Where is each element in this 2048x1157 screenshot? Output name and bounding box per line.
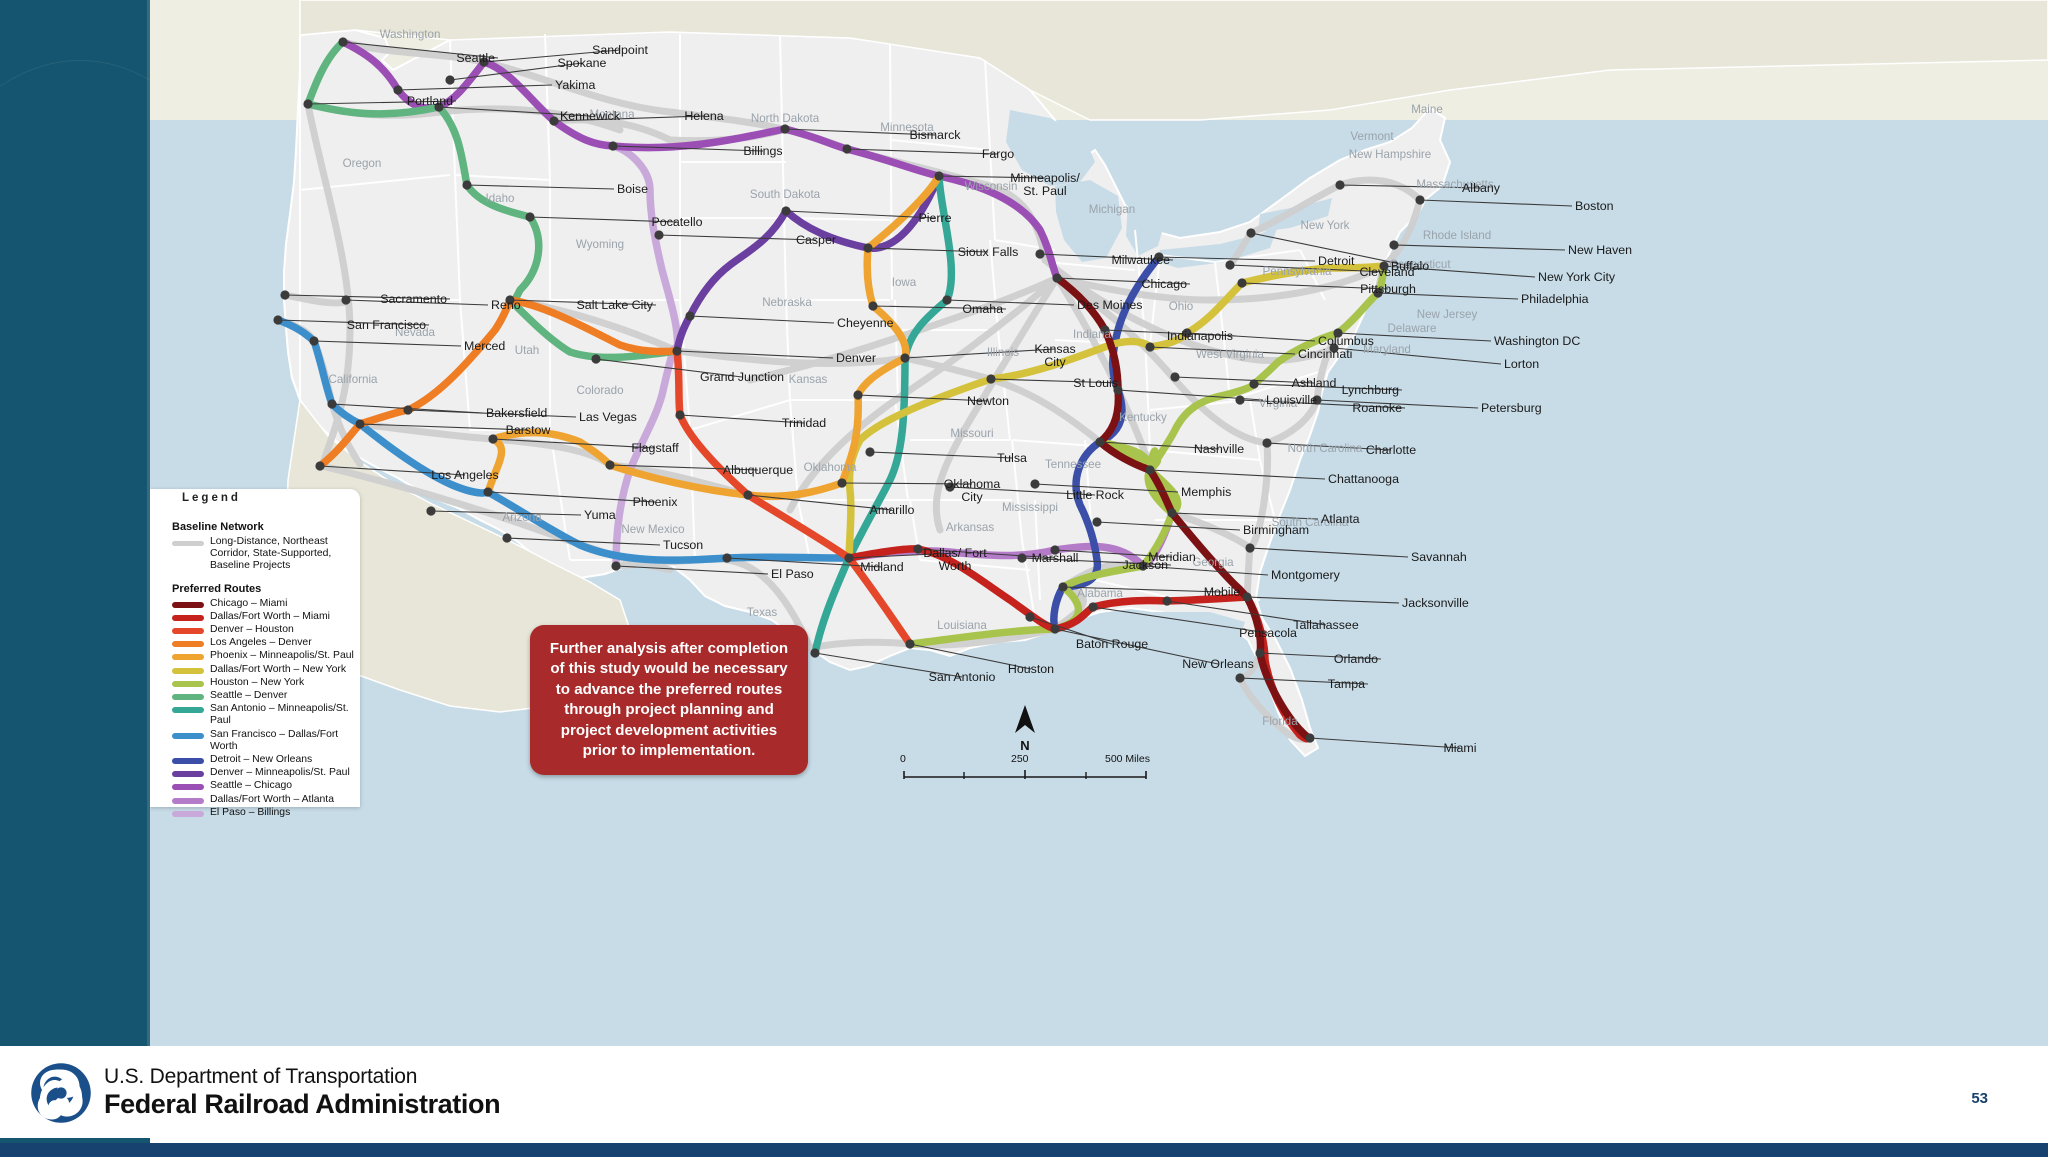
city-label: Roanoke	[1352, 401, 1402, 415]
city-label: San Francisco	[347, 318, 426, 332]
city-label: Marshall	[1032, 551, 1079, 565]
city-label: Miami	[1443, 741, 1476, 755]
scale-bar: 0 250 500 Miles	[900, 753, 1150, 786]
city-label: Jacksonville	[1402, 596, 1469, 610]
agency-line-1: U.S. Department of Transportation	[104, 1064, 500, 1089]
city-label: Mobile	[1204, 585, 1241, 599]
city-label: Los Angeles	[431, 468, 499, 482]
legend-label-route: Denver – Houston	[210, 624, 294, 636]
city-label: Pocatello	[652, 215, 703, 229]
city-label: Des Moines	[1077, 298, 1142, 312]
legend-swatch-route	[172, 694, 204, 700]
legend-item-route: Denver – Minneapolis/St. Paul	[172, 767, 360, 779]
city-label: Montgomery	[1271, 568, 1341, 582]
city-label: Buffalo	[1391, 259, 1429, 273]
city-label: San Antonio	[929, 670, 996, 684]
city-label: Pierre	[918, 211, 951, 225]
rail-arc-3	[0, 60, 150, 1046]
city-label: Chattanooga	[1328, 472, 1399, 486]
map-panel: Proposed Network of Preferred Routes	[150, 0, 2048, 1046]
legend-label-route: Denver – Minneapolis/St. Paul	[210, 767, 350, 779]
state-label: Tennessee	[1045, 458, 1101, 471]
state-label: Mississippi	[1002, 501, 1058, 514]
legend-swatch-route	[172, 758, 204, 764]
legend-label-route: Houston – New York	[210, 677, 304, 689]
city-label: New York City	[1538, 270, 1616, 284]
city-label: Boise	[617, 182, 648, 196]
label-leader-line	[1420, 200, 1572, 206]
legend-item-route: El Paso – Billings	[172, 807, 360, 819]
legend-label-route: Dallas/Fort Worth – Atlanta	[210, 794, 334, 806]
label-leader-line	[1247, 597, 1399, 603]
city-label: Midland	[860, 560, 904, 574]
legend-item-route: Dallas/Fort Worth – Miami	[172, 611, 360, 623]
legend-item-baseline: Long-Distance, Northeast Corridor, State…	[172, 536, 360, 573]
scale-tick-0: 0	[900, 753, 906, 765]
city-label: Merced	[464, 339, 505, 353]
city-label: Little Rock	[1066, 488, 1125, 502]
city-label: Charlotte	[1366, 443, 1416, 457]
legend-label-route: Detroit – New Orleans	[210, 754, 312, 766]
scale-tick-250: 250	[1011, 753, 1029, 765]
legend-item-route: Detroit – New Orleans	[172, 754, 360, 766]
state-label: Vermont	[1350, 130, 1394, 143]
city-label: Lorton	[1504, 357, 1539, 371]
city-label: Tulsa	[997, 451, 1027, 465]
city-label: Flagstaff	[631, 441, 679, 455]
city-label: Louisville	[1266, 393, 1317, 407]
state-label: Georgia	[1192, 556, 1234, 569]
city-label: Baton Rouge	[1076, 637, 1148, 651]
state-label: New Hampshire	[1349, 148, 1431, 161]
state-label: Michigan	[1089, 203, 1135, 216]
legend-preferred-heading: Preferred Routes	[172, 583, 360, 595]
city-label: Philadelphia	[1521, 292, 1589, 306]
city-label: Fargo	[982, 147, 1014, 161]
legend-item-route: San Francisco – Dallas/Fort Worth	[172, 729, 360, 753]
state-label: Utah	[515, 344, 540, 357]
state-label: Texas	[747, 606, 777, 619]
city-label: New Orleans	[1182, 657, 1254, 671]
legend-item-route: Dallas/Fort Worth – New York	[172, 664, 360, 676]
city-label: Nashville	[1194, 442, 1244, 456]
legend-label-route: Los Angeles – Denver	[210, 637, 312, 649]
legend-swatch-route	[172, 615, 204, 621]
legend-route-list: Chicago – MiamiDallas/Fort Worth – Miami…	[172, 598, 360, 819]
legend-swatch-route	[172, 784, 204, 790]
city-label: Denver	[836, 351, 876, 365]
city-label: Birmingham	[1243, 523, 1309, 537]
analysis-callout: Further analysis after completion of thi…	[530, 625, 808, 775]
agency-name: U.S. Department of Transportation Federa…	[104, 1064, 500, 1119]
city-label: Newton	[967, 394, 1009, 408]
state-label: Rhode Island	[1423, 229, 1491, 242]
page-number: 53	[1971, 1090, 1988, 1107]
legend-body: Baseline Network Long-Distance, Northeas…	[150, 511, 360, 820]
city-label: Grand Junction	[700, 370, 784, 384]
legend-label-route: Seattle – Chicago	[210, 780, 292, 792]
legend-swatch-route	[172, 654, 204, 660]
state-label: Nebraska	[762, 296, 812, 309]
city-label: Lynchburg	[1342, 383, 1400, 397]
state-label: Kentucky	[1119, 411, 1167, 424]
legend-label-route: Seattle – Denver	[210, 690, 287, 702]
state-label: Maine	[1411, 103, 1443, 116]
legend-item-route: San Antonio – Minneapolis/St. Paul	[172, 703, 360, 727]
state-label: Arkansas	[946, 521, 995, 534]
state-label: California	[329, 373, 379, 386]
state-label: South Dakota	[750, 188, 821, 201]
north-arrow: N	[1005, 705, 1045, 753]
city-label: Milwaukee	[1111, 253, 1170, 267]
city-label: Tucson	[663, 538, 703, 552]
city-label: Albany	[1462, 181, 1501, 195]
state-label: Alabama	[1077, 587, 1123, 600]
label-leader-line	[1250, 548, 1408, 557]
legend-item-route: Phoenix – Minneapolis/St. Paul	[172, 650, 360, 662]
city-label: Savannah	[1411, 550, 1467, 564]
city-label: Houston	[1008, 662, 1054, 676]
city-label: Yuma	[584, 508, 616, 522]
state-label: Kansas	[789, 373, 828, 386]
left-decorative-rail	[0, 0, 150, 1046]
state-label: Wyoming	[576, 238, 624, 251]
state-label: Idaho	[485, 192, 514, 205]
legend-label-route: Dallas/Fort Worth – New York	[210, 664, 346, 676]
legend-item-route: Dallas/Fort Worth – Atlanta	[172, 794, 360, 806]
city-label: Sacramento	[380, 292, 447, 306]
state-label: Oregon	[343, 157, 382, 170]
city-label: Ashland	[1292, 376, 1337, 390]
state-label: New York	[1301, 219, 1350, 232]
city-label: Trinidad	[782, 416, 826, 430]
state-label: Colorado	[576, 384, 623, 397]
legend-label-route: Chicago – Miami	[210, 598, 287, 610]
legend-swatch-route	[172, 628, 204, 634]
scale-bar-ruler	[900, 767, 1150, 781]
city-label: Seattle	[456, 51, 495, 65]
city-label: Chicago	[1142, 277, 1188, 291]
city-label: Reno	[491, 298, 521, 312]
state-label: Arizona	[502, 511, 542, 524]
city-label: Phoenix	[633, 495, 679, 509]
dot-triskelion-logo-icon	[30, 1062, 92, 1124]
city-label: Amarillo	[870, 503, 915, 517]
city-label: Sandpoint	[592, 43, 648, 57]
state-label: West Virginia	[1196, 348, 1264, 361]
city-label: St Louis	[1073, 376, 1118, 390]
legend-tab: Legend	[150, 489, 312, 511]
slide-root: Proposed Network of Preferred Routes	[0, 0, 2048, 1157]
scale-tick-500: 500 Miles	[1105, 753, 1150, 765]
state-label: North Carolina	[1288, 442, 1363, 455]
legend-swatch-route	[172, 602, 204, 608]
legend-item-route: Los Angeles – Denver	[172, 637, 360, 649]
scale-bar-labels: 0 250 500 Miles	[900, 753, 1150, 767]
city-label: Barstow	[506, 423, 551, 437]
legend-swatch-route	[172, 707, 204, 713]
city-label: Tampa	[1328, 677, 1365, 691]
north-arrow-icon	[1014, 705, 1036, 735]
legend-label-route: Phoenix – Minneapolis/St. Paul	[210, 650, 354, 662]
city-label: Pittsburgh	[1360, 282, 1416, 296]
legend-swatch-route	[172, 733, 204, 739]
city-label: Albuquerque	[723, 463, 793, 477]
city-label: Kennewick	[560, 109, 621, 123]
city-label: Detroit	[1318, 254, 1355, 268]
legend-swatch-route	[172, 681, 204, 687]
legend-baseline-heading: Baseline Network	[172, 521, 360, 533]
city-label: Salt Lake City	[577, 298, 654, 312]
city-label: Pensacola	[1239, 626, 1297, 640]
state-label: Oklahoma	[804, 461, 857, 474]
city-label: Petersburg	[1481, 401, 1542, 415]
city-label: New Haven	[1568, 243, 1632, 257]
legend-label-route: San Antonio – Minneapolis/St. Paul	[210, 703, 360, 727]
legend-item-route: Seattle – Denver	[172, 690, 360, 702]
city-label: Bakersfield	[486, 406, 547, 420]
city-label: Omaha	[962, 302, 1003, 316]
state-label: Louisiana	[937, 619, 987, 632]
city-label: El Paso	[771, 567, 814, 581]
agency-line-2: Federal Railroad Administration	[104, 1089, 500, 1119]
state-label: Delaware	[1388, 322, 1437, 335]
north-arrow-label: N	[1005, 738, 1045, 753]
legend-swatch-baseline	[172, 541, 204, 546]
city-label: Washington DC	[1494, 334, 1580, 348]
city-label: Casper	[796, 233, 836, 247]
page-footer: U.S. Department of Transportation Federa…	[0, 1046, 2048, 1157]
city-label: Cincinnati	[1298, 347, 1352, 361]
state-label: Ohio	[1169, 300, 1194, 313]
city-label: Portland	[407, 94, 453, 108]
legend-item-route: Denver – Houston	[172, 624, 360, 636]
city-label: Spokane	[558, 56, 607, 70]
state-label: New Jersey	[1417, 308, 1478, 321]
state-label: Illinois	[987, 346, 1019, 359]
label-leader-line	[1310, 738, 1460, 748]
legend-item-route: Seattle – Chicago	[172, 780, 360, 792]
legend-label-route: El Paso – Billings	[210, 807, 290, 819]
city-label: Yakima	[555, 78, 596, 92]
legend-label-route: Dallas/Fort Worth – Miami	[210, 611, 330, 623]
legend-swatch-route	[172, 641, 204, 647]
state-label: Washington	[380, 28, 441, 41]
legend-swatch-route	[172, 668, 204, 674]
analysis-callout-text: Further analysis after completion of thi…	[530, 639, 808, 762]
state-label: North Dakota	[751, 112, 820, 125]
legend-label-baseline: Long-Distance, Northeast Corridor, State…	[210, 536, 340, 573]
city-label: Memphis	[1181, 485, 1231, 499]
city-label: Jackson	[1123, 558, 1169, 572]
state-label: New Mexico	[621, 523, 684, 536]
city-label: Indianapolis	[1167, 329, 1233, 343]
state-label: Indiana	[1073, 328, 1112, 341]
city-label: Orlando	[1334, 652, 1378, 666]
label-leader-line	[1394, 245, 1565, 250]
state-label: Iowa	[892, 276, 917, 289]
legend-item-route: Chicago – Miami	[172, 598, 360, 610]
label-leader-line	[1334, 348, 1501, 364]
footer-left-accent	[0, 1138, 150, 1143]
legend-swatch-route	[172, 798, 204, 804]
state-label: Missouri	[950, 427, 993, 440]
legend-item-route: Houston – New York	[172, 677, 360, 689]
state-label: Florida	[1262, 715, 1298, 728]
city-label: Helena	[684, 109, 723, 123]
map-legend: Legend Baseline Network Long-Distance, N…	[150, 489, 360, 807]
footer-bottom-bar	[0, 1143, 2048, 1157]
city-label: Boston	[1575, 199, 1614, 213]
city-label: Columbus	[1318, 334, 1374, 348]
city-label: Tallahassee	[1293, 618, 1359, 632]
legend-title: Legend	[182, 492, 241, 504]
legend-label-route: San Francisco – Dallas/Fort Worth	[210, 729, 360, 753]
legend-swatch-route	[172, 811, 204, 817]
city-label: Billings	[743, 144, 782, 158]
city-label: Atlanta	[1321, 512, 1360, 526]
railroad-network-map: WashingtonOregonIdahoMontanaWyomingNorth…	[150, 0, 2048, 1046]
city-label: Sioux Falls	[958, 245, 1019, 259]
legend-swatch-route	[172, 771, 204, 777]
city-label: Cheyenne	[837, 316, 894, 330]
city-label: Las Vegas	[579, 410, 637, 424]
city-label: Bismarck	[910, 128, 962, 142]
